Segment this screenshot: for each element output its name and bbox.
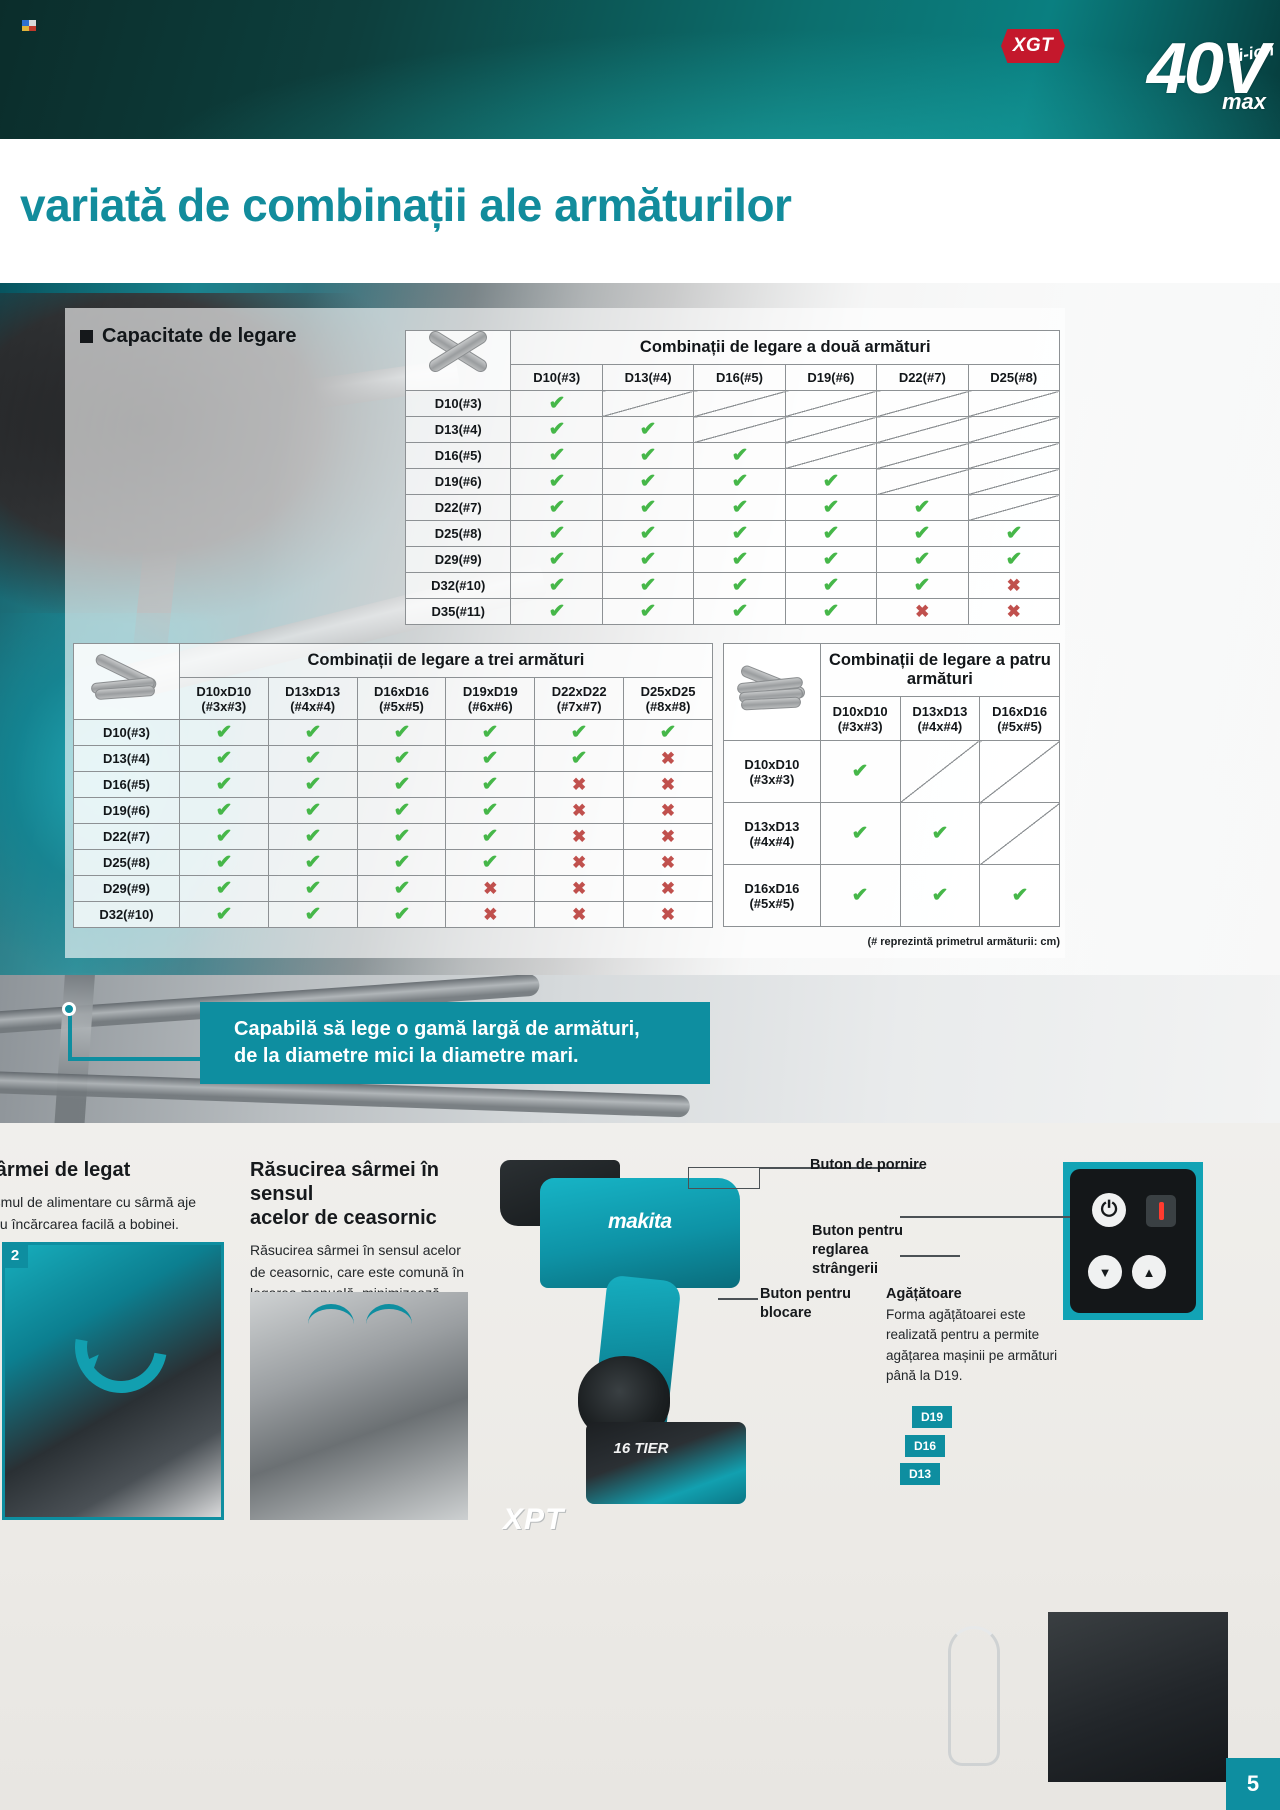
- column-header: D13(#4): [602, 365, 693, 391]
- table-cell: ✔: [785, 495, 876, 521]
- table-cell: ✔: [694, 599, 785, 625]
- table-row: D10(#3)✔✔✔✔✔✔: [74, 720, 713, 746]
- table-cell: ✔: [179, 850, 268, 876]
- table-cell: ✔: [968, 521, 1060, 547]
- table-cell: ✔: [820, 741, 900, 803]
- check-icon: ✔: [852, 886, 869, 905]
- table-cell: ✔: [900, 865, 980, 927]
- table-cell: [785, 391, 876, 417]
- check-icon: ✔: [640, 602, 657, 621]
- table-cell: ✔: [511, 443, 602, 469]
- table-cell: ✔: [602, 417, 693, 443]
- two-rebar-cross-icon: [421, 339, 495, 383]
- feature-step-badge: 2: [2, 1242, 28, 1268]
- check-icon: ✔: [482, 853, 499, 872]
- check-icon: ✔: [215, 723, 232, 742]
- check-icon: ✔: [393, 749, 410, 768]
- check-icon: ✔: [823, 498, 840, 517]
- table-cell: ✔: [785, 599, 876, 625]
- table-cell: ✖: [535, 824, 624, 850]
- cross-icon: ✖: [661, 750, 675, 767]
- check-icon: ✔: [482, 775, 499, 794]
- table-cell: ✔: [357, 772, 446, 798]
- check-icon: ✔: [304, 749, 321, 768]
- header-gradient: [0, 0, 1280, 139]
- cross-icon: ✖: [661, 854, 675, 871]
- hook-chip-d16: D16: [905, 1435, 945, 1457]
- table-cell: ✖: [446, 876, 535, 902]
- check-icon: ✔: [932, 886, 949, 905]
- feature-middle-heading-line1: Răsucirea sârmei în sensul: [250, 1159, 439, 1205]
- column-header: D25(#8): [968, 365, 1060, 391]
- table-cell: ✔: [511, 547, 602, 573]
- table-cell: ✖: [624, 746, 713, 772]
- row-header: D16xD16(#5x#5): [724, 865, 821, 927]
- table-cell: [877, 417, 968, 443]
- table-cell: ✔: [511, 469, 602, 495]
- table-row: D32(#10)✔✔✔✖✖✖: [74, 902, 713, 928]
- row-header: D35(#11): [406, 599, 511, 625]
- callout-leader-line: [68, 1015, 202, 1061]
- callout-leader-dot: [62, 1002, 76, 1016]
- row-header: D16(#5): [74, 772, 180, 798]
- check-icon: ✔: [823, 602, 840, 621]
- table-cell: ✖: [535, 850, 624, 876]
- table-cell: ✔: [511, 417, 602, 443]
- table-row: D13xD13(#4x#4)✔✔: [724, 803, 1060, 865]
- table-row: D22(#7)✔✔✔✔✔: [406, 495, 1060, 521]
- xgt-badge: XGT: [1001, 29, 1065, 63]
- language-flag-icon: [22, 20, 36, 31]
- check-icon: ✔: [1005, 550, 1022, 569]
- check-icon: ✔: [393, 801, 410, 820]
- table-cell: [968, 391, 1060, 417]
- table-cell: ✔: [877, 495, 968, 521]
- table-cell: ✔: [179, 772, 268, 798]
- lock-button-label: Buton pentru blocare: [760, 1285, 880, 1323]
- table-cell: ✖: [624, 798, 713, 824]
- column-header: D22(#7): [877, 365, 968, 391]
- table-cell: ✔: [357, 850, 446, 876]
- row-header: D10xD10(#3x#3): [724, 741, 821, 803]
- table-cell: ✔: [694, 521, 785, 547]
- table-cell: ✔: [179, 902, 268, 928]
- row-header: D22(#7): [406, 495, 511, 521]
- row-header: D22(#7): [74, 824, 180, 850]
- table-cell: ✖: [624, 850, 713, 876]
- table-icon-cell: [74, 644, 180, 720]
- column-header: D25xD25(#8x#8): [624, 678, 713, 720]
- check-icon: ✔: [304, 723, 321, 742]
- check-icon: ✔: [482, 827, 499, 846]
- xpt-badge: XPT: [503, 1503, 564, 1537]
- table-cell: ✔: [694, 469, 785, 495]
- tension-button-label-line2: reglarea: [812, 1242, 868, 1258]
- table-cell: ✔: [980, 865, 1060, 927]
- four-rebar-cross-icon: [735, 670, 809, 714]
- table-cell: ✔: [179, 798, 268, 824]
- table-cell: ✔: [602, 547, 693, 573]
- capacity-heading: Capacitate de legare: [80, 325, 297, 348]
- check-icon: ✔: [215, 801, 232, 820]
- check-icon: ✔: [215, 853, 232, 872]
- table-cell: [877, 391, 968, 417]
- check-icon: ✔: [548, 524, 565, 543]
- table-row: D19(#6)✔✔✔✔: [406, 469, 1060, 495]
- column-header: D10xD10(#3x#3): [820, 697, 900, 741]
- check-icon: ✔: [640, 472, 657, 491]
- column-header: D16xD16(#5x#5): [357, 678, 446, 720]
- two-rebar-combination-table: Combinații de legare a două armăturiD10(…: [405, 330, 1060, 625]
- table-cell: ✔: [900, 803, 980, 865]
- hook-chip-d19: D19: [912, 1406, 952, 1428]
- column-header: D13xD13(#4x#4): [900, 697, 980, 741]
- check-icon: ✔: [932, 824, 949, 843]
- three-rebar-cross-icon: [89, 660, 163, 704]
- table-cell: ✔: [268, 824, 357, 850]
- table-cell: ✔: [602, 573, 693, 599]
- power-button-label: Buton de pornire: [810, 1156, 940, 1175]
- check-icon: ✔: [640, 524, 657, 543]
- table-cell: ✔: [694, 547, 785, 573]
- table-row: D10xD10(#3x#3)✔: [724, 741, 1060, 803]
- table-cell: [785, 443, 876, 469]
- check-icon: ✔: [731, 472, 748, 491]
- lock-button-label-line2: blocare: [760, 1305, 812, 1321]
- table-cell: ✔: [357, 876, 446, 902]
- row-header: D25(#8): [74, 850, 180, 876]
- check-icon: ✔: [914, 576, 931, 595]
- table-title: Combinații de legare a patru armături: [820, 644, 1059, 697]
- callout-banner: Capabilă să lege o gamă largă de armătur…: [200, 1002, 710, 1084]
- check-icon: ✔: [823, 472, 840, 491]
- table-cell: ✔: [357, 824, 446, 850]
- check-icon: ✔: [823, 524, 840, 543]
- row-header: D19(#6): [406, 469, 511, 495]
- table-cell: ✔: [268, 850, 357, 876]
- cross-icon: ✖: [661, 776, 675, 793]
- table-cell: ✖: [535, 798, 624, 824]
- table-cell: [694, 391, 785, 417]
- cross-icon: ✖: [483, 906, 497, 923]
- table-row: D25(#8)✔✔✔✔✖✖: [74, 850, 713, 876]
- callout-line-2: de la diametre mici la diametre mari.: [234, 1045, 579, 1067]
- table-cell: [968, 417, 1060, 443]
- cross-icon: ✖: [572, 880, 586, 897]
- check-icon: ✔: [304, 801, 321, 820]
- column-header: D19(#6): [785, 365, 876, 391]
- row-header: D29(#9): [406, 547, 511, 573]
- table-cell: ✔: [511, 391, 602, 417]
- check-icon: ✔: [548, 576, 565, 595]
- lock-button-leader: [718, 1298, 758, 1300]
- makita-brand-label: makita: [608, 1210, 672, 1234]
- led-indicator-icon: [1146, 1195, 1176, 1227]
- check-icon: ✔: [304, 827, 321, 846]
- table-cell: ✔: [357, 720, 446, 746]
- check-icon: ✔: [1005, 524, 1022, 543]
- table-title: Combinații de legare a trei armături: [179, 644, 712, 678]
- check-icon: ✔: [393, 775, 410, 794]
- feature-left: a sârmei de legat canismul de alimentare…: [0, 1158, 218, 1235]
- column-header: D10xD10(#3x#3): [179, 678, 268, 720]
- table-cell: ✖: [535, 772, 624, 798]
- hook-chip-d13: D13: [900, 1463, 940, 1485]
- table-cell: ✔: [511, 495, 602, 521]
- check-icon: ✔: [482, 723, 499, 742]
- cross-icon: ✖: [572, 854, 586, 871]
- table-row: D19(#6)✔✔✔✔✖✖: [74, 798, 713, 824]
- check-icon: ✔: [215, 827, 232, 846]
- check-icon: ✔: [731, 446, 748, 465]
- check-icon: ✔: [304, 775, 321, 794]
- table-cell: [980, 741, 1060, 803]
- table-row: D29(#9)✔✔✔✖✖✖: [74, 876, 713, 902]
- table-row: D16xD16(#5x#5)✔✔✔: [724, 865, 1060, 927]
- increase-button-icon[interactable]: ▲: [1132, 1255, 1166, 1289]
- feature-middle-heading-line2: acelor de ceasornic: [250, 1207, 437, 1229]
- check-icon: ✔: [640, 576, 657, 595]
- check-icon: ✔: [482, 749, 499, 768]
- rotation-arrow-icon: [57, 1283, 185, 1411]
- check-icon: ✔: [852, 762, 869, 781]
- table-title: Combinații de legare a două armături: [511, 331, 1060, 365]
- check-icon: ✔: [823, 550, 840, 569]
- check-icon: ✔: [852, 824, 869, 843]
- hook-heading: Agățătoare: [886, 1285, 962, 1304]
- check-icon: ✔: [640, 550, 657, 569]
- feature-left-photo: [2, 1242, 224, 1520]
- control-panel-inset: ⏻ ▼ ▲: [1063, 1162, 1203, 1320]
- column-header: D16xD16(#5x#5): [980, 697, 1060, 741]
- table-cell: ✔: [694, 443, 785, 469]
- check-icon: ✔: [640, 498, 657, 517]
- check-icon: ✔: [548, 394, 565, 413]
- row-header: D32(#10): [74, 902, 180, 928]
- check-icon: ✔: [548, 550, 565, 569]
- feature-middle-heading: Răsucirea sârmei în sensul acelor de cea…: [250, 1158, 468, 1230]
- check-icon: ✔: [304, 853, 321, 872]
- table-cell: ✔: [535, 746, 624, 772]
- table-cell: ✔: [268, 746, 357, 772]
- tension-button-label: Buton pentru reglarea strângerii: [812, 1222, 932, 1279]
- table-cell: ✔: [602, 599, 693, 625]
- table-cell: ✔: [785, 573, 876, 599]
- table-cell: ✔: [268, 720, 357, 746]
- table-cell: ✔: [446, 824, 535, 850]
- table-cell: ✔: [268, 876, 357, 902]
- table-cell: ✔: [446, 746, 535, 772]
- table-cell: [968, 443, 1060, 469]
- table-row: D10(#3)✔: [406, 391, 1060, 417]
- table-cell: ✔: [179, 876, 268, 902]
- check-icon: ✔: [393, 905, 410, 924]
- table-cell: [968, 469, 1060, 495]
- row-header: D10(#3): [74, 720, 180, 746]
- square-bullet-icon: [80, 330, 93, 343]
- cross-icon: ✖: [661, 906, 675, 923]
- table-cell: [877, 443, 968, 469]
- table-cell: ✔: [268, 902, 357, 928]
- row-header: D13(#4): [74, 746, 180, 772]
- tension-button-label-line3: strângerii: [812, 1261, 878, 1277]
- check-icon: ✔: [215, 749, 232, 768]
- check-icon: ✔: [914, 550, 931, 569]
- column-header: D16(#5): [694, 365, 785, 391]
- check-icon: ✔: [215, 879, 232, 898]
- check-icon: ✔: [393, 827, 410, 846]
- check-icon: ✔: [215, 775, 232, 794]
- check-icon: ✔: [215, 905, 232, 924]
- column-header: D19xD19(#6x#6): [446, 678, 535, 720]
- voltage-number: 40: [1147, 29, 1221, 109]
- cross-icon: ✖: [572, 776, 586, 793]
- cross-icon: ✖: [661, 828, 675, 845]
- table-cell: [900, 741, 980, 803]
- table-row: D13(#4)✔✔✔✔✔✖: [74, 746, 713, 772]
- decrease-button-icon[interactable]: ▼: [1088, 1255, 1122, 1289]
- table-cell: ✖: [968, 573, 1060, 599]
- check-icon: ✔: [1011, 886, 1028, 905]
- cross-icon: ✖: [661, 802, 675, 819]
- table-row: D25(#8)✔✔✔✔✔✔: [406, 521, 1060, 547]
- check-icon: ✔: [548, 472, 565, 491]
- hook-wire-icon: [948, 1626, 1000, 1766]
- table-cell: [877, 469, 968, 495]
- check-icon: ✔: [731, 550, 748, 569]
- table-cell: ✔: [602, 469, 693, 495]
- table-cell: ✖: [535, 876, 624, 902]
- callout-line-1: Capabilă să lege o gamă largă de armătur…: [234, 1018, 640, 1040]
- cross-icon: ✖: [572, 906, 586, 923]
- table-cell: ✔: [179, 824, 268, 850]
- table-cell: ✔: [268, 772, 357, 798]
- table-cell: ✖: [624, 876, 713, 902]
- check-icon: ✔: [731, 498, 748, 517]
- table-cell: ✔: [694, 495, 785, 521]
- check-icon: ✔: [823, 576, 840, 595]
- check-icon: ✔: [914, 498, 931, 517]
- table-row: D16(#5)✔✔✔: [406, 443, 1060, 469]
- cross-icon: ✖: [661, 880, 675, 897]
- table-cell: ✔: [179, 746, 268, 772]
- check-icon: ✔: [482, 801, 499, 820]
- twist-direction-arrows-icon: [308, 1300, 418, 1334]
- column-header: D22xD22(#7x#7): [535, 678, 624, 720]
- check-icon: ✔: [640, 420, 657, 439]
- table-cell: ✖: [624, 772, 713, 798]
- power-button-marker-box: [688, 1167, 760, 1189]
- check-icon: ✔: [304, 905, 321, 924]
- check-icon: ✔: [304, 879, 321, 898]
- table-cell: ✔: [877, 521, 968, 547]
- control-panel-face: ⏻ ▼ ▲: [1070, 1169, 1196, 1313]
- cross-icon: ✖: [572, 802, 586, 819]
- table-cell: ✔: [357, 798, 446, 824]
- table-cell: [785, 417, 876, 443]
- check-icon: ✔: [731, 524, 748, 543]
- check-icon: ✔: [914, 524, 931, 543]
- table-cell: ✔: [602, 495, 693, 521]
- product-photo: makita 16 TIER: [490, 1160, 820, 1560]
- table-cell: ✔: [179, 720, 268, 746]
- row-header: D19(#6): [74, 798, 180, 824]
- table-cell: ✔: [820, 865, 900, 927]
- table-cell: ✖: [535, 902, 624, 928]
- page-header: XGT 40V max Li-ion: [0, 0, 1280, 139]
- table-cell: ✔: [602, 443, 693, 469]
- table-cell: [980, 803, 1060, 865]
- lock-button-label-line1: Buton pentru: [760, 1286, 851, 1302]
- table-row: D16(#5)✔✔✔✔✖✖: [74, 772, 713, 798]
- table-cell: ✔: [446, 720, 535, 746]
- tier-badge: 16 TIER: [610, 1428, 672, 1468]
- table-row: D29(#9)✔✔✔✔✔✔: [406, 547, 1060, 573]
- row-header: D32(#10): [406, 573, 511, 599]
- cross-icon: ✖: [1007, 603, 1021, 620]
- table-cell: [694, 417, 785, 443]
- column-header: D10(#3): [511, 365, 602, 391]
- table-cell: ✔: [785, 547, 876, 573]
- check-icon: ✔: [548, 420, 565, 439]
- table-cell: ✔: [511, 521, 602, 547]
- check-icon: ✔: [660, 723, 677, 742]
- check-icon: ✔: [731, 602, 748, 621]
- table-row: D35(#11)✔✔✔✔✖✖: [406, 599, 1060, 625]
- power-button-icon[interactable]: ⏻: [1092, 1193, 1126, 1227]
- table-cell: ✔: [446, 798, 535, 824]
- cross-icon: ✖: [483, 880, 497, 897]
- table-cell: ✔: [357, 746, 446, 772]
- capacity-heading-label: Capacitate de legare: [102, 325, 297, 348]
- row-header: D13xD13(#4x#4): [724, 803, 821, 865]
- row-header: D25(#8): [406, 521, 511, 547]
- table-cell: ✔: [694, 573, 785, 599]
- column-header: D13xD13(#4x#4): [268, 678, 357, 720]
- table-cell: ✔: [820, 803, 900, 865]
- table-cell: ✖: [968, 599, 1060, 625]
- check-icon: ✔: [640, 446, 657, 465]
- table-row: D22(#7)✔✔✔✔✖✖: [74, 824, 713, 850]
- table-cell: ✖: [624, 902, 713, 928]
- table-row: D13(#4)✔✔: [406, 417, 1060, 443]
- table-cell: ✔: [877, 573, 968, 599]
- table-cell: ✔: [624, 720, 713, 746]
- power-button-leader-2: [900, 1216, 1070, 1218]
- table-cell: ✔: [446, 850, 535, 876]
- hook-body: Forma agățătoarei este realizată pentru …: [886, 1305, 1071, 1386]
- table-cell: ✖: [446, 902, 535, 928]
- page-number: 5: [1226, 1758, 1280, 1810]
- check-icon: ✔: [393, 853, 410, 872]
- row-header: D29(#9): [74, 876, 180, 902]
- cross-icon: ✖: [572, 828, 586, 845]
- check-icon: ✔: [393, 879, 410, 898]
- row-header: D13(#4): [406, 417, 511, 443]
- table-cell: ✔: [877, 547, 968, 573]
- row-header: D16(#5): [406, 443, 511, 469]
- table-cell: ✖: [624, 824, 713, 850]
- hook-photo: [1048, 1612, 1228, 1782]
- table-footnote: (# reprezintă primetrul armăturii: cm): [723, 936, 1060, 948]
- table-cell: ✔: [785, 469, 876, 495]
- check-icon: ✔: [548, 498, 565, 517]
- check-icon: ✔: [393, 723, 410, 742]
- table-cell: ✔: [511, 573, 602, 599]
- table-icon-cell: [406, 331, 511, 391]
- table-cell: ✔: [446, 772, 535, 798]
- row-header: D10(#3): [406, 391, 511, 417]
